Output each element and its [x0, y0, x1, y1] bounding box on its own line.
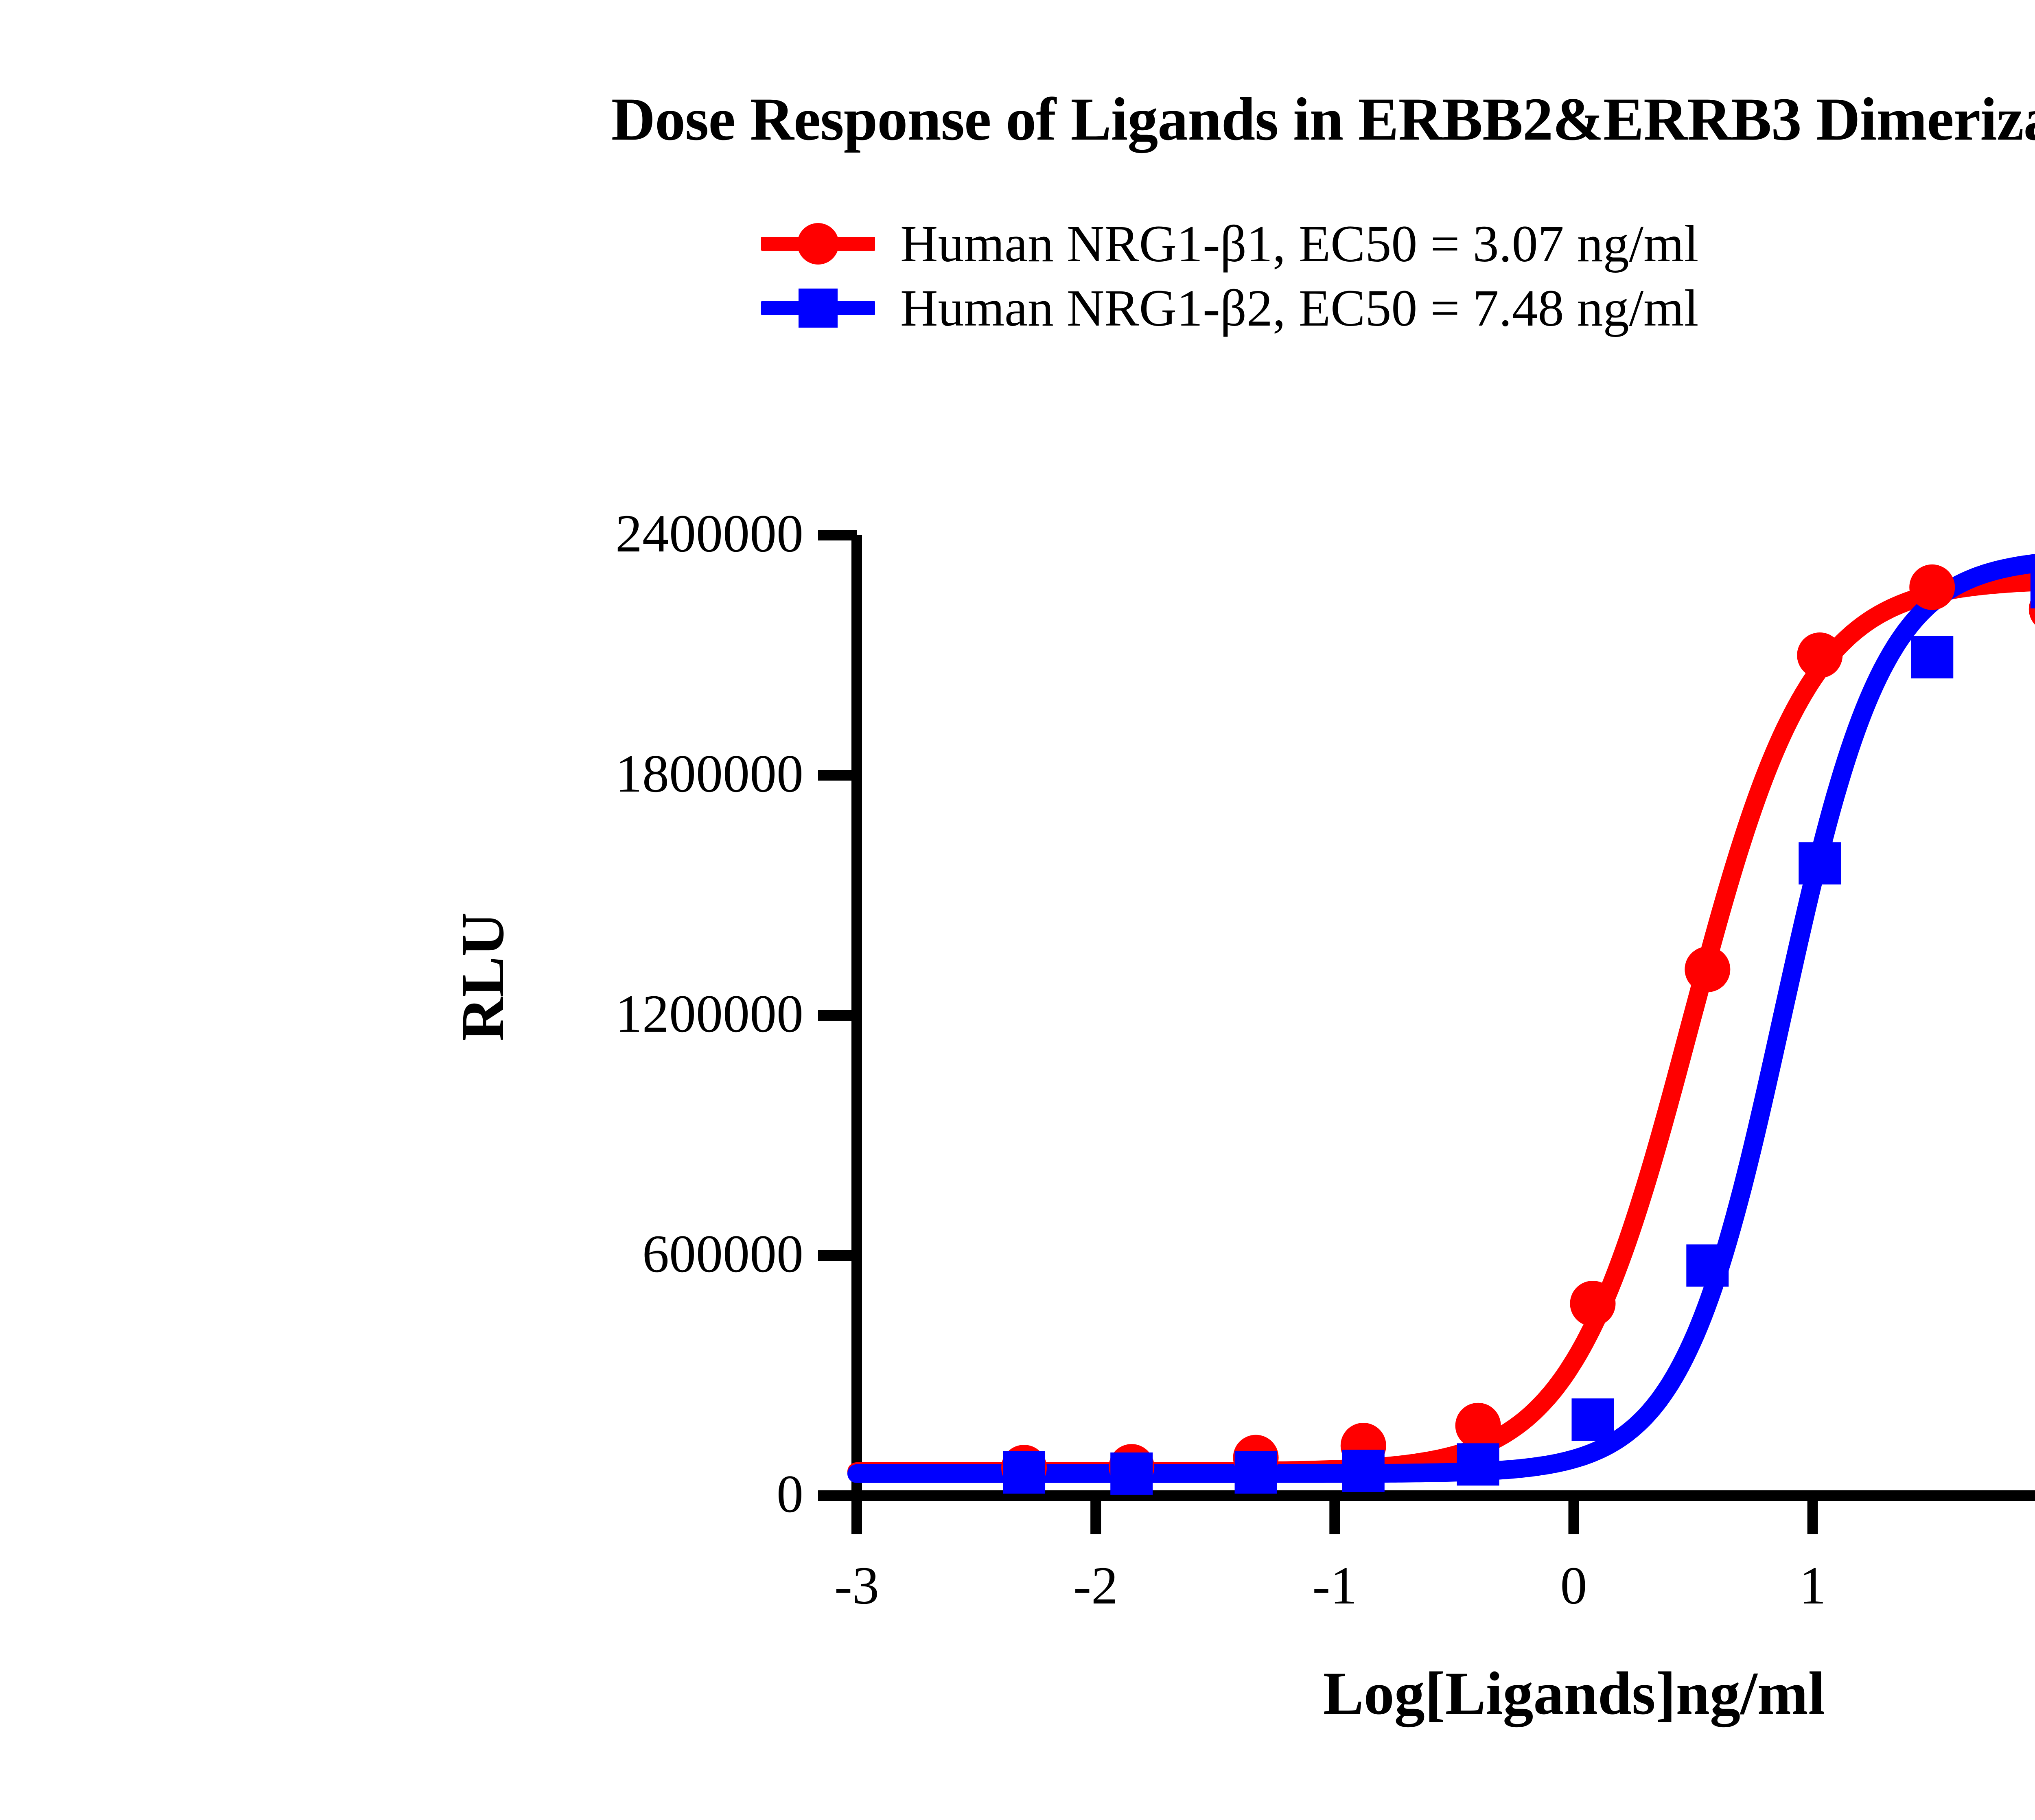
- series-curve-2: [857, 557, 2035, 1474]
- plot-area: 0600000120000018000002400000 -3-2-10123 …: [0, 0, 2035, 1820]
- y-tick-label: 1200000: [615, 987, 803, 1041]
- data-point-square-s2: [2031, 566, 2035, 608]
- data-point-circle-s1: [1909, 564, 1955, 610]
- data-point-square-s2: [1799, 842, 1841, 884]
- y-axis-label: RLU: [448, 912, 518, 1041]
- data-point-square-s2: [1686, 1245, 1729, 1287]
- y-tick-label: 600000: [642, 1227, 803, 1281]
- x-tick-label: -1: [1274, 1559, 1396, 1612]
- x-tick-label: 0: [1513, 1559, 1635, 1612]
- data-point-circle-s1: [1455, 1403, 1501, 1448]
- data-point-square-s2: [1571, 1398, 1614, 1441]
- data-point-circle-s1: [1570, 1281, 1615, 1326]
- x-axis-label: Log[Ligands]ng/ml: [857, 1658, 2035, 1728]
- x-tick-label: 1: [1752, 1559, 1874, 1612]
- chart-canvas: Dose Response of Ligands in ERBB2&ERRB3 …: [0, 0, 2035, 1820]
- x-tick-label: -2: [1035, 1559, 1157, 1612]
- x-tick-label: -3: [796, 1559, 918, 1612]
- data-point-square-s2: [1911, 636, 1953, 678]
- data-point-circle-s1: [1797, 632, 1842, 678]
- data-point-square-s2: [1457, 1443, 1499, 1485]
- data-point-square-s2: [1342, 1450, 1385, 1492]
- y-tick-label: 1800000: [615, 747, 803, 801]
- axis-layer: [818, 535, 2035, 1534]
- data-point-circle-s1: [1685, 947, 1730, 992]
- plot-svg: [0, 0, 2035, 1820]
- x-tick-label: 2: [1991, 1559, 2035, 1612]
- data-point-square-s2: [1110, 1452, 1153, 1495]
- series-layer: [857, 534, 2035, 1495]
- y-tick-label: 0: [777, 1467, 803, 1521]
- y-tick-label: 2400000: [615, 507, 803, 560]
- data-point-square-s2: [1235, 1451, 1277, 1494]
- data-point-square-s2: [1003, 1451, 1045, 1494]
